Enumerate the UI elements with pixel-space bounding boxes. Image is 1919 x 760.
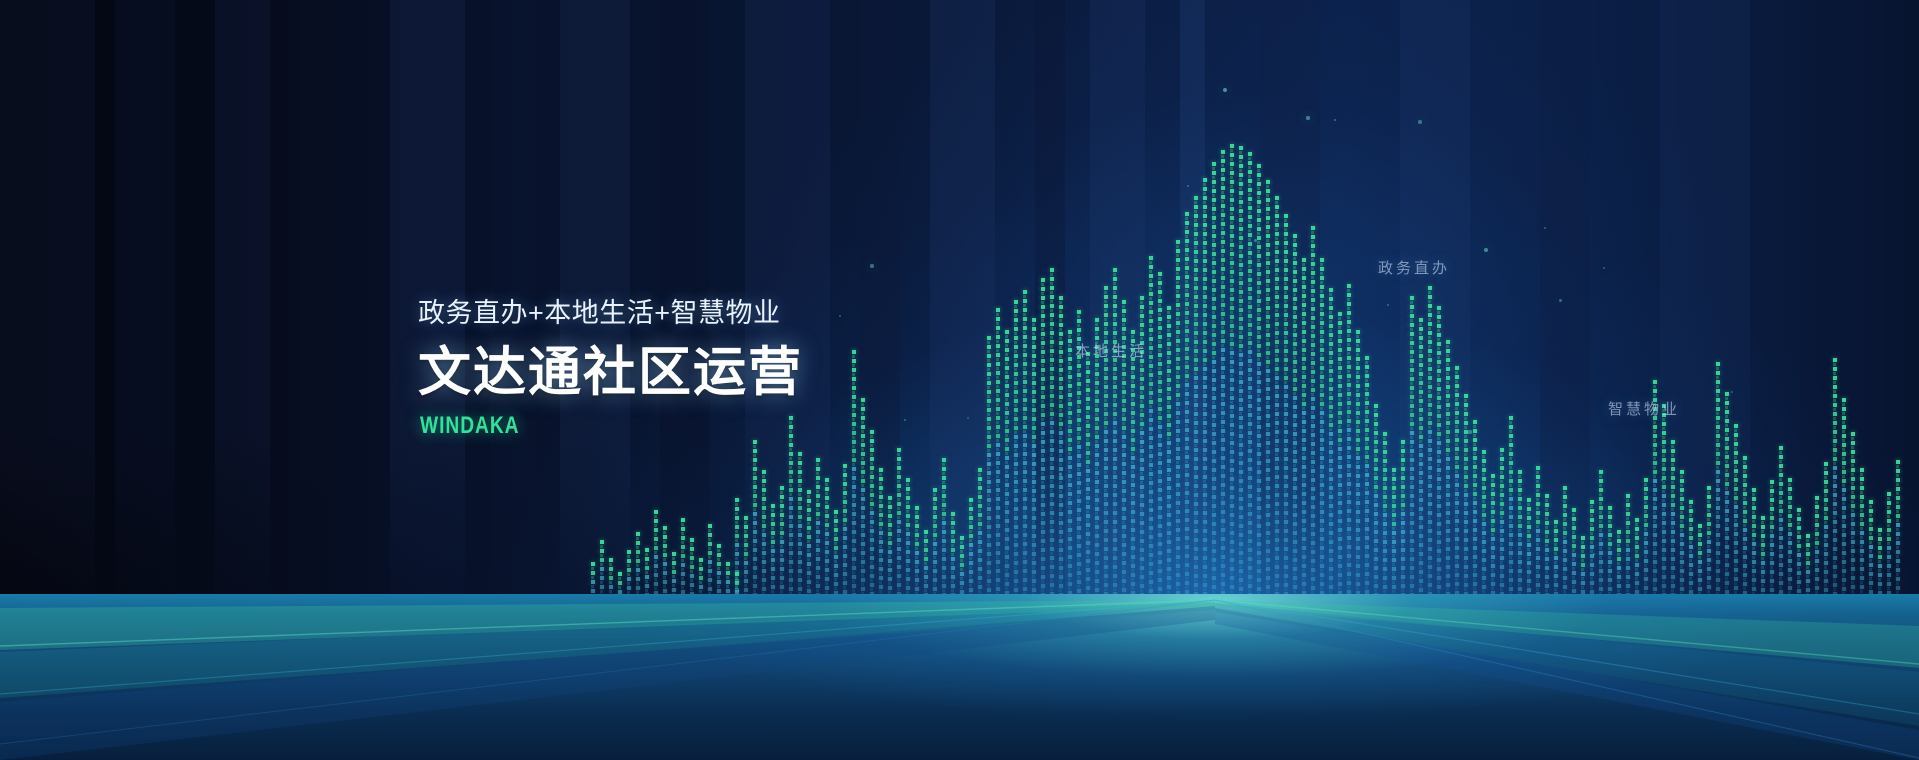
city-dot-column (1743, 456, 1748, 600)
city-dot-column (1509, 416, 1514, 600)
city-dot-column (1329, 288, 1334, 600)
city-dot-column (1104, 286, 1109, 600)
city-dot-column (1473, 420, 1478, 600)
city-dot-column (762, 470, 767, 600)
city-dot-column (654, 510, 659, 600)
city-dot-column (1707, 486, 1712, 600)
city-dot-column (771, 504, 776, 600)
city-dot-column (933, 488, 938, 600)
city-dot-column (1770, 480, 1775, 600)
city-dot-column (1725, 392, 1730, 600)
city-dot-column (1671, 440, 1676, 600)
floating-label-local-life: 本地生活 (1075, 340, 1147, 361)
city-dot-column (645, 548, 650, 600)
city-dot-column (1392, 468, 1397, 600)
city-dot-column (1572, 508, 1577, 600)
city-dot-column (1365, 356, 1370, 600)
city-dot-column (1257, 164, 1262, 600)
banner-headline: 文达通社区运营 (418, 342, 1018, 404)
city-dot-column (1455, 366, 1460, 600)
city-dot-column (1023, 290, 1028, 600)
city-dot-column (1860, 468, 1865, 600)
city-dot-column (1284, 214, 1289, 600)
city-dot-column (924, 530, 929, 600)
brand-wordmark: WINDAKA (420, 412, 898, 440)
city-dot-column (1320, 258, 1325, 600)
city-dot-column (960, 536, 965, 600)
city-dot-column (1806, 534, 1811, 600)
city-dot-column (1815, 496, 1820, 600)
city-dot-column (1635, 518, 1640, 600)
city-dot-column (1761, 516, 1766, 600)
city-dot-column (1482, 450, 1487, 600)
city-dot-column (1158, 272, 1163, 600)
city-dot-column (1185, 212, 1190, 600)
city-dot-column (663, 526, 668, 600)
city-dot-column (1167, 306, 1172, 600)
city-dot-column (1239, 146, 1244, 600)
city-dot-column (1797, 508, 1802, 600)
city-dot-column (1446, 340, 1451, 600)
city-dot-column (825, 478, 830, 600)
city-dot-column (951, 512, 956, 600)
city-dot-column (780, 486, 785, 600)
city-dot-column (798, 452, 803, 600)
city-dot-column (1626, 494, 1631, 600)
city-dot-column (1266, 180, 1271, 600)
city-dot-column (1230, 144, 1235, 600)
city-dot-column (978, 468, 983, 600)
city-dot-column (1203, 178, 1208, 600)
city-dot-column (1608, 506, 1613, 600)
city-dot-column (672, 552, 677, 600)
city-dot-column (1716, 362, 1721, 600)
city-dot-column (1311, 226, 1316, 600)
city-dot-column (1050, 268, 1055, 600)
city-dot-column (1221, 150, 1226, 600)
city-dot-column (1518, 470, 1523, 600)
city-dot-column (888, 496, 893, 600)
city-dot-column (744, 516, 749, 600)
city-dot-column (1536, 466, 1541, 600)
city-dot-column (1590, 500, 1595, 600)
city-dot-column (708, 524, 713, 600)
city-dot-column (1374, 404, 1379, 600)
city-dot-column (1356, 330, 1361, 600)
city-dot-column (1842, 398, 1847, 600)
city-dot-column (915, 506, 920, 600)
city-dot-column (1131, 330, 1136, 600)
city-dot-column (1851, 432, 1856, 600)
city-dot-column (627, 550, 632, 600)
city-dot-column (690, 538, 695, 600)
city-dot-column (807, 490, 812, 600)
city-dot-column (1491, 474, 1496, 600)
city-dot-column (1041, 278, 1046, 600)
city-dot-column (1464, 394, 1469, 600)
city-dot-column (1419, 318, 1424, 600)
city-dot-column (1338, 312, 1343, 600)
city-dot-column (1788, 478, 1793, 600)
city-dot-column (1554, 520, 1559, 600)
banner-stage: 政务直办+本地生活+智慧物业 文达通社区运营 WINDAKA 本地生活政务直办智… (0, 0, 1919, 760)
city-dot-column (834, 510, 839, 600)
city-dot-column (1176, 240, 1181, 600)
city-dot-column (843, 464, 848, 600)
city-dot-column (1833, 358, 1838, 600)
city-dot-column (1500, 448, 1505, 600)
city-dot-column (1662, 404, 1667, 600)
city-dot-column (1383, 432, 1388, 600)
city-dot-column (1527, 498, 1532, 600)
city-dot-column (1086, 352, 1091, 600)
city-dot-column (1302, 258, 1307, 600)
city-dot-column (1617, 530, 1622, 600)
city-dot-column (1887, 492, 1892, 600)
city-dot-column (942, 458, 947, 600)
city-dot-column (1410, 296, 1415, 600)
city-dot-column (1428, 286, 1433, 600)
city-dot-column (879, 468, 884, 600)
city-dot-column (1644, 478, 1649, 600)
city-dot-column (717, 544, 722, 600)
city-dot-column (753, 440, 758, 600)
city-dot-column (969, 498, 974, 600)
city-dot-column (906, 478, 911, 600)
city-dot-column (789, 416, 794, 600)
city-dot-column (1689, 500, 1694, 600)
banner-subtitle: 政务直办+本地生活+智慧物业 (418, 296, 1018, 330)
city-dot-column (1032, 318, 1037, 600)
city-dot-column (1752, 488, 1757, 600)
city-dot-column (870, 430, 875, 600)
city-dot-column (1149, 256, 1154, 600)
city-dot-column (1545, 494, 1550, 600)
city-dot-column (1212, 162, 1217, 600)
city-dot-column (1401, 440, 1406, 600)
city-dot-column (636, 532, 641, 600)
city-dot-column (897, 448, 902, 600)
city-dot-column (1437, 306, 1442, 600)
city-dot-column (1734, 424, 1739, 600)
floating-label-smart-estate: 智慧物业 (1608, 398, 1680, 419)
ground-perspective-rays (0, 594, 1919, 760)
city-dot-column (1194, 196, 1199, 600)
city-dot-column (1779, 446, 1784, 600)
city-dot-column (1824, 462, 1829, 600)
city-dot-column (681, 518, 686, 600)
city-dot-column (600, 540, 605, 600)
city-dot-column (1347, 284, 1352, 600)
city-dot-column (1248, 152, 1253, 600)
city-dot-column (1599, 470, 1604, 600)
headline-copy-block: 政务直办+本地生活+智慧物业 文达通社区运营 WINDAKA (418, 296, 1018, 440)
floating-label-gov-service: 政务直办 (1378, 257, 1450, 278)
city-dot-column (1698, 524, 1703, 600)
city-dot-column (1878, 528, 1883, 600)
perspective-ground (0, 594, 1919, 760)
city-dot-column (1275, 196, 1280, 600)
city-dot-column (1068, 330, 1073, 600)
city-dot-column (1581, 536, 1586, 600)
city-dot-column (1293, 234, 1298, 600)
city-dot-column (1563, 486, 1568, 600)
city-dot-column (1113, 268, 1118, 600)
city-dot-column (1896, 460, 1901, 600)
city-dot-column (1059, 296, 1064, 600)
city-dot-column (1680, 470, 1685, 600)
city-dot-column (816, 458, 821, 600)
city-dot-column (1869, 500, 1874, 600)
